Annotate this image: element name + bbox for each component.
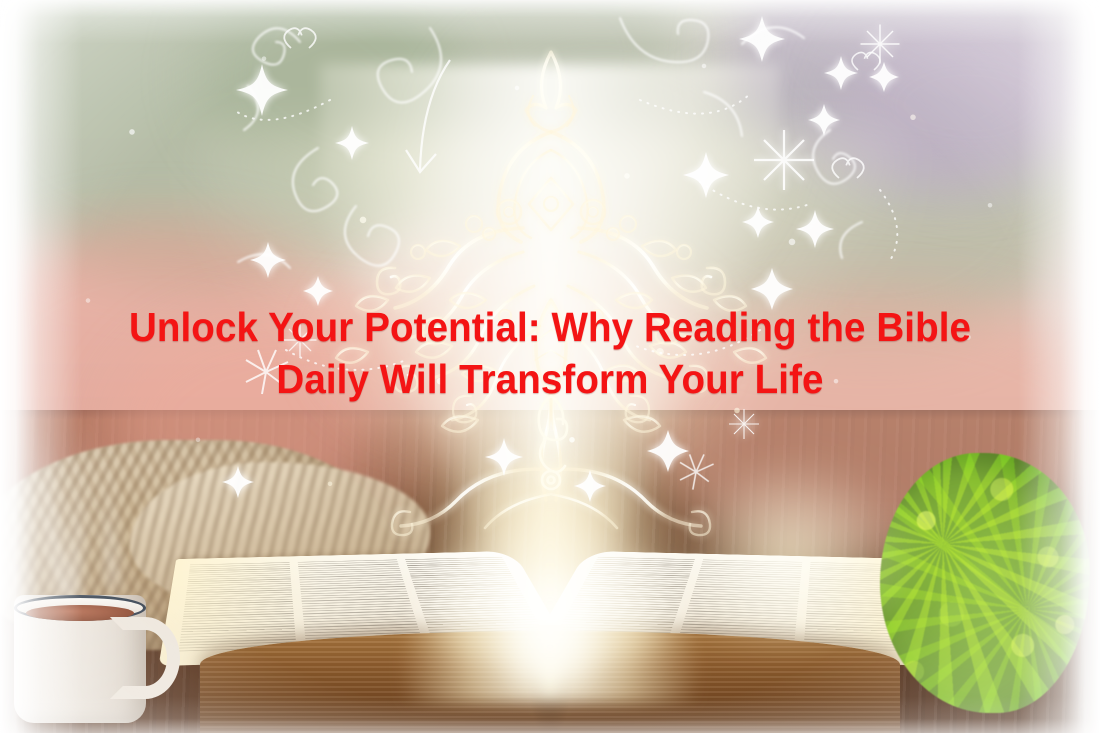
topiary-plant bbox=[880, 453, 1090, 713]
mug-handle bbox=[110, 617, 180, 699]
spine-glow bbox=[490, 561, 610, 681]
hero-banner: Unlock Your Potential: Why Reading the B… bbox=[0, 0, 1100, 733]
tea-mug bbox=[8, 573, 178, 723]
plant-foliage bbox=[880, 453, 1090, 713]
open-bible bbox=[170, 471, 930, 733]
page-title: Unlock Your Potential: Why Reading the B… bbox=[89, 301, 1010, 405]
text-column bbox=[178, 562, 297, 653]
